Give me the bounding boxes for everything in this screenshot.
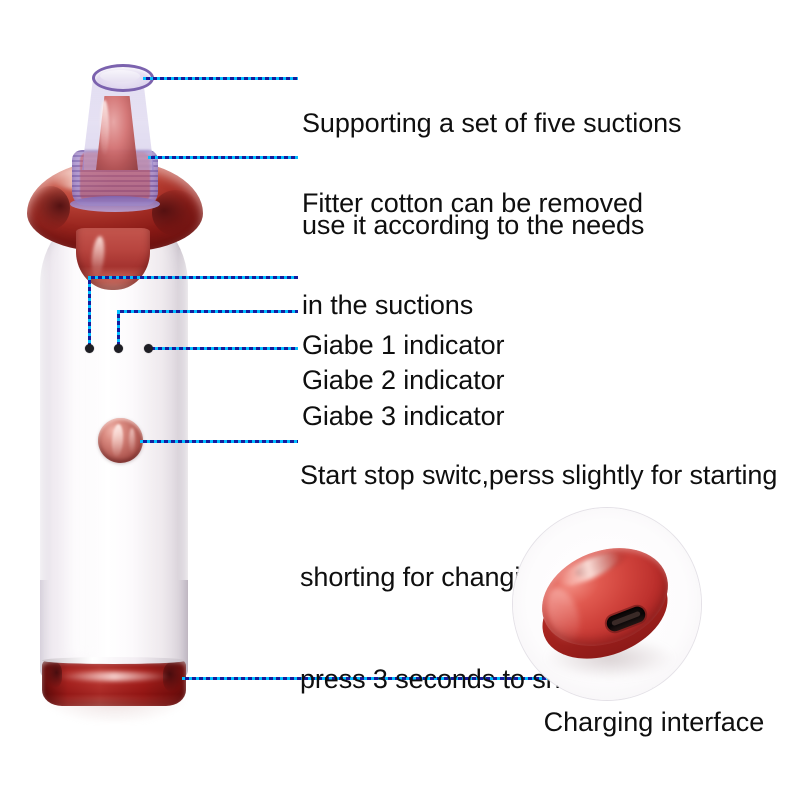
head-shadow-right [152, 190, 200, 236]
device-illustration [0, 0, 330, 800]
body-edge-left [36, 250, 50, 580]
callout-power-switch-line-1: Start stop switc,perss slightly for star… [300, 458, 777, 492]
charging-interface-inset: Charging interface [500, 495, 800, 775]
head-shadow-left [30, 186, 70, 230]
base-highlight [58, 672, 170, 681]
charging-interface-caption: Charging interface [508, 707, 800, 738]
power-button-highlight-secondary [129, 428, 135, 454]
body-highlight [62, 235, 96, 655]
diagram-canvas: Supporting a set of five suctions use it… [0, 0, 800, 800]
body-edge-right [178, 250, 192, 580]
callout-filter-cotton-line-1: Fitter cotton can be removed [302, 186, 643, 220]
suction-collar-ring [70, 196, 160, 212]
base-top-edge [42, 657, 186, 664]
suction-head-opening [100, 70, 140, 82]
suction-head-gloss [100, 100, 109, 156]
